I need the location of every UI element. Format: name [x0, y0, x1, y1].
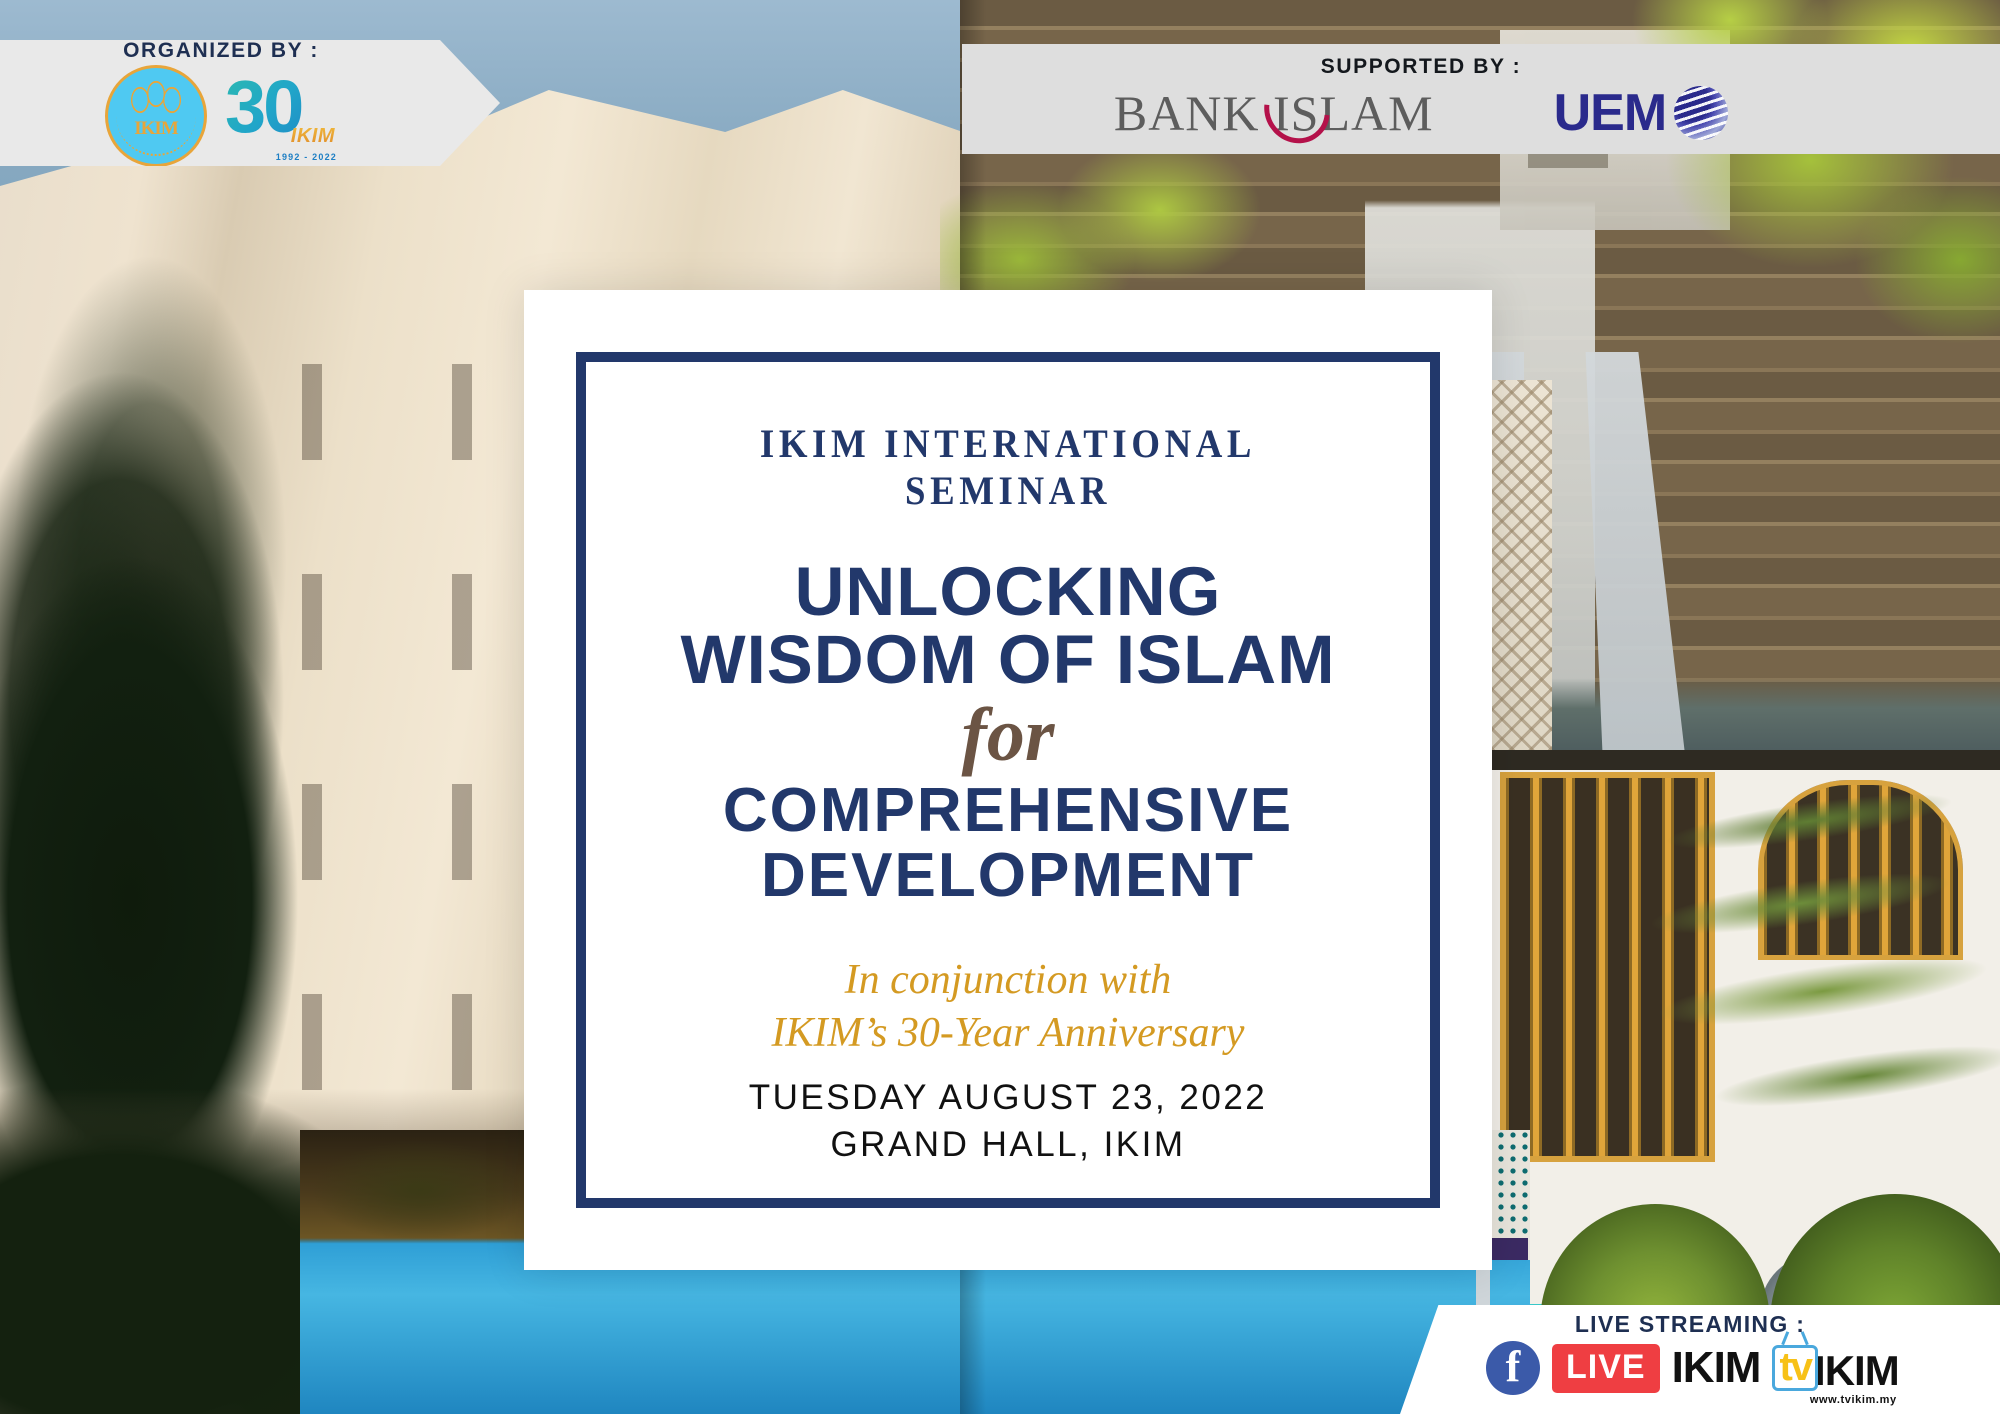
- ikim-30-anniversary-logo: 30 IKIM 1992 - 2022: [225, 70, 337, 162]
- uem-logo: UEM: [1554, 83, 1729, 143]
- live-streaming-label: LIVE STREAMING :: [1400, 1311, 1980, 1338]
- bank-islam-logo: BANK ISLAM: [1114, 84, 1434, 142]
- headline-line-2: WISDOM OF ISLAM: [680, 626, 1335, 694]
- organized-by-label: ORGANIZED BY :: [123, 39, 319, 63]
- ikim-seal-logo: IKIM: [105, 65, 207, 167]
- headline-line-4: DEVELOPMENT: [761, 844, 1255, 908]
- tvikim-tv-text: tv: [1779, 1345, 1811, 1389]
- seminar-poster: ORGANIZED BY : IKIM 30 IKIM 1992 - 2022 …: [0, 0, 2000, 1414]
- tvikim-ikim-text: IKIM: [1814, 1351, 1899, 1391]
- headline-line-1: UNLOCKING: [795, 558, 1222, 626]
- event-card-border: IKIM INTERNATIONAL SEMINAR UNLOCKING WIS…: [576, 352, 1440, 1208]
- organizer-logos: IKIM 30 IKIM 1992 - 2022: [105, 65, 337, 167]
- ikim-channel-label: IKIM: [1672, 1343, 1761, 1393]
- supported-by-label: SUPPORTED BY :: [1321, 55, 1522, 79]
- tvikim-url: www.tvikim.my: [1810, 1394, 1897, 1406]
- anniversary-ikim-text: IKIM: [291, 125, 335, 148]
- anniversary-years: 1992 - 2022: [276, 152, 337, 162]
- live-streaming-ribbon: LIVE STREAMING : LIVE IKIM tv IKIM www.t…: [1400, 1305, 2000, 1414]
- uem-wordmark: UEM: [1554, 83, 1667, 143]
- photo-palm-fronds: [1593, 750, 2000, 1207]
- supporter-logos: BANK ISLAM UEM: [1114, 83, 1728, 143]
- event-card: IKIM INTERNATIONAL SEMINAR UNLOCKING WIS…: [524, 290, 1492, 1270]
- event-date: TUESDAY AUGUST 23, 2022: [749, 1075, 1268, 1122]
- streaming-channels: LIVE IKIM tv IKIM www.tvikim.my: [1486, 1341, 1986, 1395]
- headline-line-3: COMPREHENSIVE: [723, 779, 1293, 843]
- tv-screen-icon: tv: [1772, 1345, 1818, 1391]
- globe-icon: [1674, 86, 1728, 140]
- supported-by-ribbon: SUPPORTED BY : BANK ISLAM UEM: [962, 44, 2000, 154]
- conjunction-line-2: IKIM’s 30-Year Anniversary: [772, 1007, 1245, 1060]
- event-venue: GRAND HALL, IKIM: [749, 1122, 1268, 1169]
- event-details: TUESDAY AUGUST 23, 2022 GRAND HALL, IKIM: [749, 1075, 1268, 1169]
- ikim-seal-arc: [116, 76, 196, 156]
- headline-connector: for: [962, 697, 1055, 773]
- organized-by-ribbon: ORGANIZED BY : IKIM 30 IKIM 1992 - 2022: [0, 40, 500, 166]
- facebook-icon[interactable]: [1486, 1341, 1540, 1395]
- ikim-seal-word: IKIM: [108, 118, 204, 140]
- tvikim-logo[interactable]: tv IKIM www.tvikim.my: [1772, 1345, 1898, 1391]
- seminar-kicker: IKIM INTERNATIONAL SEMINAR: [657, 420, 1360, 514]
- live-badge: LIVE: [1552, 1344, 1660, 1393]
- conjunction-line-1: In conjunction with: [845, 954, 1172, 1007]
